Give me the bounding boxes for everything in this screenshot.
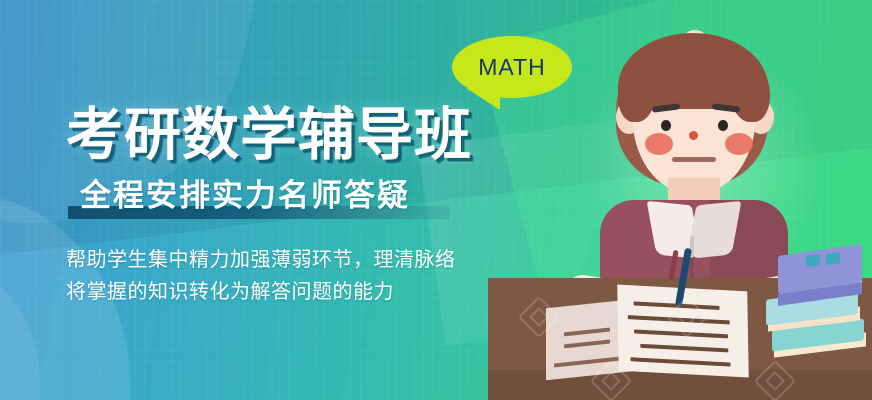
eye-right	[718, 120, 728, 131]
math-speech-bubble: MATH	[452, 36, 572, 98]
headline-title: 考研数学辅导班	[66, 104, 586, 166]
subheadline-wrapper: 全程安排实力名师答疑	[66, 176, 586, 226]
speech-bubble-label: MATH	[478, 54, 545, 81]
promo-text-block: 考研数学辅导班 全程安排实力名师答疑 帮助学生集中精力加强薄弱环节，理清脉络 将…	[66, 104, 586, 308]
nose	[689, 131, 698, 140]
body-copy-line-1: 帮助学生集中精力加强薄弱环节，理清脉络	[66, 244, 586, 276]
cheek-blush-left	[645, 133, 673, 155]
promo-banner: MATH 考研数学辅导班 全程安排实力名师答疑 帮助学生集中精力加强薄弱环节，理…	[0, 0, 872, 400]
book-label-square-a	[806, 254, 820, 267]
cheek-blush-right	[725, 133, 753, 155]
mouth	[672, 157, 716, 162]
eye-left	[661, 120, 671, 131]
body-copy: 帮助学生集中精力加强薄弱环节，理清脉络 将掌握的知识转化为解答问题的能力	[66, 244, 586, 308]
subheadline-title: 全程安排实力名师答疑	[66, 176, 586, 216]
body-copy-line-2: 将掌握的知识转化为解答问题的能力	[66, 276, 586, 308]
book-label-square-b	[826, 252, 840, 265]
